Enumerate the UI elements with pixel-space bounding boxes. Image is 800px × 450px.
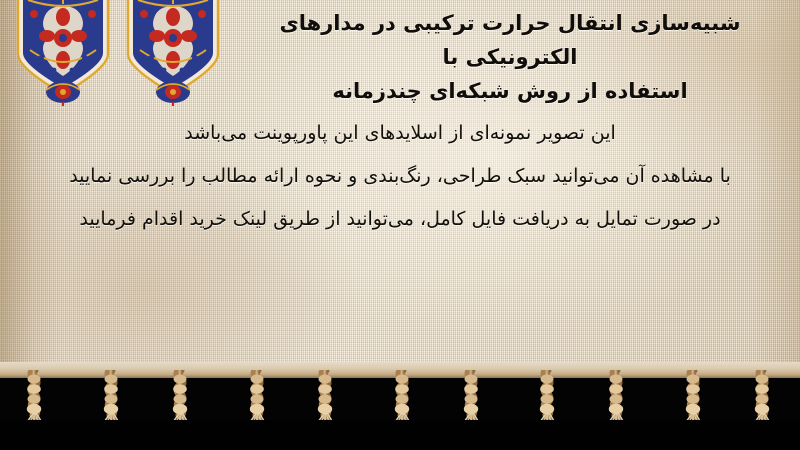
fringe-tassel [385, 370, 419, 448]
fringe-tassel [745, 370, 779, 448]
carpet-fringe-tassels [0, 362, 800, 450]
slide-body-line-2: با مشاهده آن می‌توانید سبک طراحی، رنگ‌بن… [0, 155, 800, 198]
fringe-tassel [454, 370, 488, 448]
fringe-tassel [163, 370, 197, 448]
slide-title-line-1: شبیه‌سازی انتقال حرارت ترکیبی در مدارهای… [230, 6, 790, 74]
slide-body-line-1: این تصویر نمونه‌ای از اسلایدهای این پاور… [0, 112, 800, 155]
presentation-slide: شبیه‌سازی انتقال حرارت ترکیبی در مدارهای… [0, 0, 800, 450]
slide-title: شبیه‌سازی انتقال حرارت ترکیبی در مدارهای… [230, 6, 790, 108]
fringe-tassel [240, 370, 274, 448]
slide-title-line-2: استفاده از روش شبکه‌ای چندزمانه [230, 74, 790, 108]
fringe-tassel [17, 370, 51, 448]
slide-body: این تصویر نمونه‌ای از اسلایدهای این پاور… [0, 112, 800, 241]
slide-text-layer: شبیه‌سازی انتقال حرارت ترکیبی در مدارهای… [0, 0, 800, 372]
slide-body-line-3: در صورت تمایل به دریافت فایل کامل، می‌تو… [0, 198, 800, 241]
fringe-tassel [530, 370, 564, 448]
fringe-tassel [94, 370, 128, 448]
fringe-tassel [676, 370, 710, 448]
fringe-tassel [599, 370, 633, 448]
fringe-tassel [308, 370, 342, 448]
